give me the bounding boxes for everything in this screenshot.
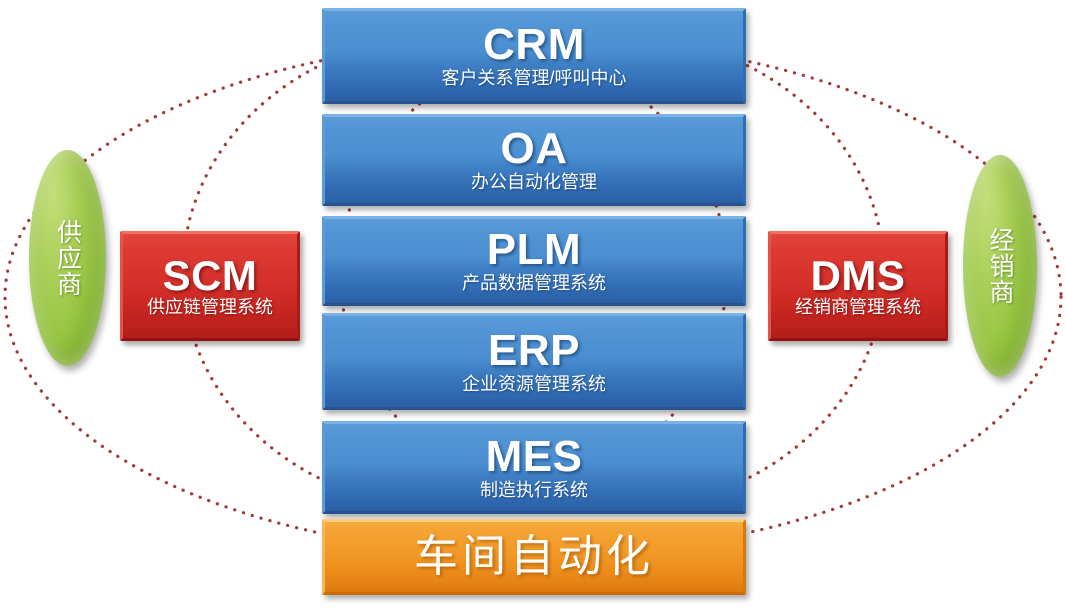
entity-supplier[interactable]: 供应商 <box>29 150 106 366</box>
entity-dealer[interactable]: 经销商 <box>963 155 1037 377</box>
system-box-crm[interactable]: CRM 客户关系管理/呼叫中心 <box>322 8 746 104</box>
system-box-erp-name: 企业资源管理系统 <box>462 375 606 395</box>
system-box-crm-code: CRM <box>483 23 585 67</box>
system-box-erp-code: ERP <box>488 329 580 373</box>
system-box-scm[interactable]: SCM 供应链管理系统 <box>120 231 300 341</box>
system-box-oa-name: 办公自动化管理 <box>471 173 597 193</box>
system-box-shopfloor-automation-code: 车间自动化 <box>414 535 654 579</box>
entity-dealer-label: 经销商 <box>984 227 1016 305</box>
system-box-dms-code: DMS <box>811 255 906 297</box>
system-box-plm-code: PLM <box>487 228 581 272</box>
system-box-dms-name: 经销商管理系统 <box>795 298 921 318</box>
system-box-scm-code: SCM <box>163 255 258 297</box>
system-box-scm-name: 供应链管理系统 <box>147 298 273 318</box>
system-box-dms[interactable]: DMS 经销商管理系统 <box>768 231 948 341</box>
system-box-crm-name: 客户关系管理/呼叫中心 <box>442 69 627 89</box>
system-box-oa-code: OA <box>501 127 568 171</box>
system-box-mes-name: 制造执行系统 <box>480 481 588 501</box>
diagram-canvas: 供应商 经销商 SCM 供应链管理系统 DMS 经销商管理系统 CRM 客户关系… <box>0 0 1066 609</box>
system-box-shopfloor-automation[interactable]: 车间自动化 <box>322 519 746 595</box>
system-box-plm-name: 产品数据管理系统 <box>462 274 606 294</box>
system-box-oa[interactable]: OA 办公自动化管理 <box>322 114 746 206</box>
system-box-mes-code: MES <box>486 435 583 479</box>
system-box-plm[interactable]: PLM 产品数据管理系统 <box>322 216 746 306</box>
system-box-mes[interactable]: MES 制造执行系统 <box>322 421 746 514</box>
system-box-erp[interactable]: ERP 企业资源管理系统 <box>322 313 746 410</box>
entity-supplier-label: 供应商 <box>52 219 84 297</box>
